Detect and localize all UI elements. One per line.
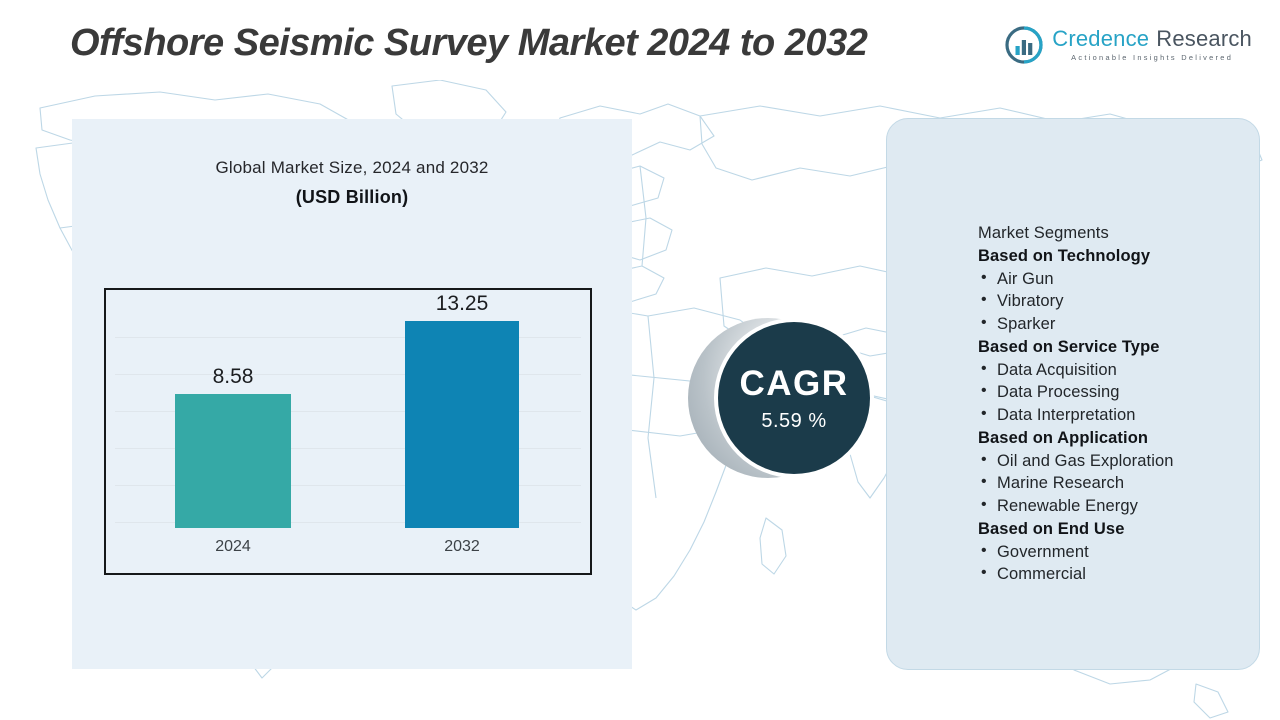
bullet-icon: • — [981, 494, 987, 516]
segment-item[interactable]: •Vibratory — [978, 290, 1268, 313]
segment-item-label: Data Processing — [997, 383, 1120, 401]
bullet-icon: • — [981, 312, 987, 334]
chart-heading-line2: (USD Billion) — [72, 187, 632, 208]
bullet-icon: • — [981, 540, 987, 562]
segments-title: Market Segments — [978, 222, 1268, 245]
bar-category-label-2032: 2032 — [444, 538, 480, 556]
segment-group-heading: Based on Application — [978, 427, 1268, 450]
segment-item-label: Data Interpretation — [997, 406, 1136, 424]
segment-group-heading: Based on Technology — [978, 245, 1268, 268]
brand-logo: Credence Research Actionable Insights De… — [1005, 24, 1252, 66]
segment-group-heading: Based on End Use — [978, 518, 1268, 541]
bar-rect-2024 — [175, 394, 291, 528]
segment-item-label: Government — [997, 543, 1089, 561]
segment-item[interactable]: •Marine Research — [978, 472, 1268, 495]
segment-item[interactable]: •Government — [978, 541, 1268, 564]
segment-item[interactable]: •Commercial — [978, 563, 1268, 586]
cagr-value: 5.59 % — [761, 411, 826, 431]
bar-chart: 8.58 2024 13.25 2032 — [104, 288, 592, 575]
market-segments-list: Market Segments Based on Technology•Air … — [978, 222, 1268, 586]
segment-item[interactable]: •Renewable Energy — [978, 495, 1268, 518]
bar-category-label-2024: 2024 — [215, 538, 251, 556]
infographic-canvas: Offshore Seismic Survey Market 2024 to 2… — [0, 0, 1280, 720]
chart-heading: Global Market Size, 2024 and 2032 (USD B… — [72, 158, 632, 208]
bullet-icon: • — [981, 358, 987, 380]
cagr-circle: CAGR 5.59 % — [718, 322, 870, 474]
segment-item[interactable]: •Data Interpretation — [978, 404, 1268, 427]
bar-2032[interactable]: 13.25 2032 — [405, 321, 519, 528]
bullet-icon: • — [981, 380, 987, 402]
logo-tagline: Actionable Insights Delivered — [1052, 54, 1252, 61]
cagr-label: CAGR — [739, 366, 848, 401]
bullet-icon: • — [981, 471, 987, 493]
bar-chart-circle-icon — [1005, 26, 1043, 64]
segment-group-heading: Based on Service Type — [978, 336, 1268, 359]
bar-value-label-2032: 13.25 — [436, 292, 489, 316]
bullet-icon: • — [981, 562, 987, 584]
bar-value-label-2024: 8.58 — [213, 365, 254, 389]
segment-item-label: Marine Research — [997, 474, 1124, 492]
segment-item[interactable]: •Data Acquisition — [978, 359, 1268, 382]
logo-name-credence: Credence — [1052, 28, 1149, 50]
segment-item[interactable]: •Sparker — [978, 313, 1268, 336]
page-title: Offshore Seismic Survey Market 2024 to 2… — [70, 22, 867, 65]
segment-item-label: Vibratory — [997, 292, 1064, 310]
bullet-icon: • — [981, 449, 987, 471]
segment-item-label: Data Acquisition — [997, 361, 1117, 379]
bullet-icon: • — [981, 267, 987, 289]
bullet-icon: • — [981, 289, 987, 311]
cagr-badge: CAGR 5.59 % — [688, 318, 888, 488]
bar-2024[interactable]: 8.58 2024 — [175, 394, 291, 528]
segment-item-label: Renewable Energy — [997, 497, 1138, 515]
segment-item-label: Oil and Gas Exploration — [997, 452, 1174, 470]
segment-item[interactable]: •Air Gun — [978, 268, 1268, 291]
chart-plot-area: 8.58 2024 13.25 2032 — [106, 290, 590, 573]
bar-rect-2032 — [405, 321, 519, 528]
segment-item-label: Air Gun — [997, 270, 1054, 288]
logo-name-research: Research — [1156, 28, 1252, 50]
segment-item-label: Commercial — [997, 565, 1086, 583]
segment-item[interactable]: •Data Processing — [978, 381, 1268, 404]
bullet-icon: • — [981, 403, 987, 425]
segment-item-label: Sparker — [997, 315, 1055, 333]
chart-heading-line1: Global Market Size, 2024 and 2032 — [72, 158, 632, 178]
header-bar: Offshore Seismic Survey Market 2024 to 2… — [0, 0, 1280, 80]
logo-wordmark: Credence Research Actionable Insights De… — [1052, 28, 1252, 61]
segment-item[interactable]: •Oil and Gas Exploration — [978, 450, 1268, 473]
